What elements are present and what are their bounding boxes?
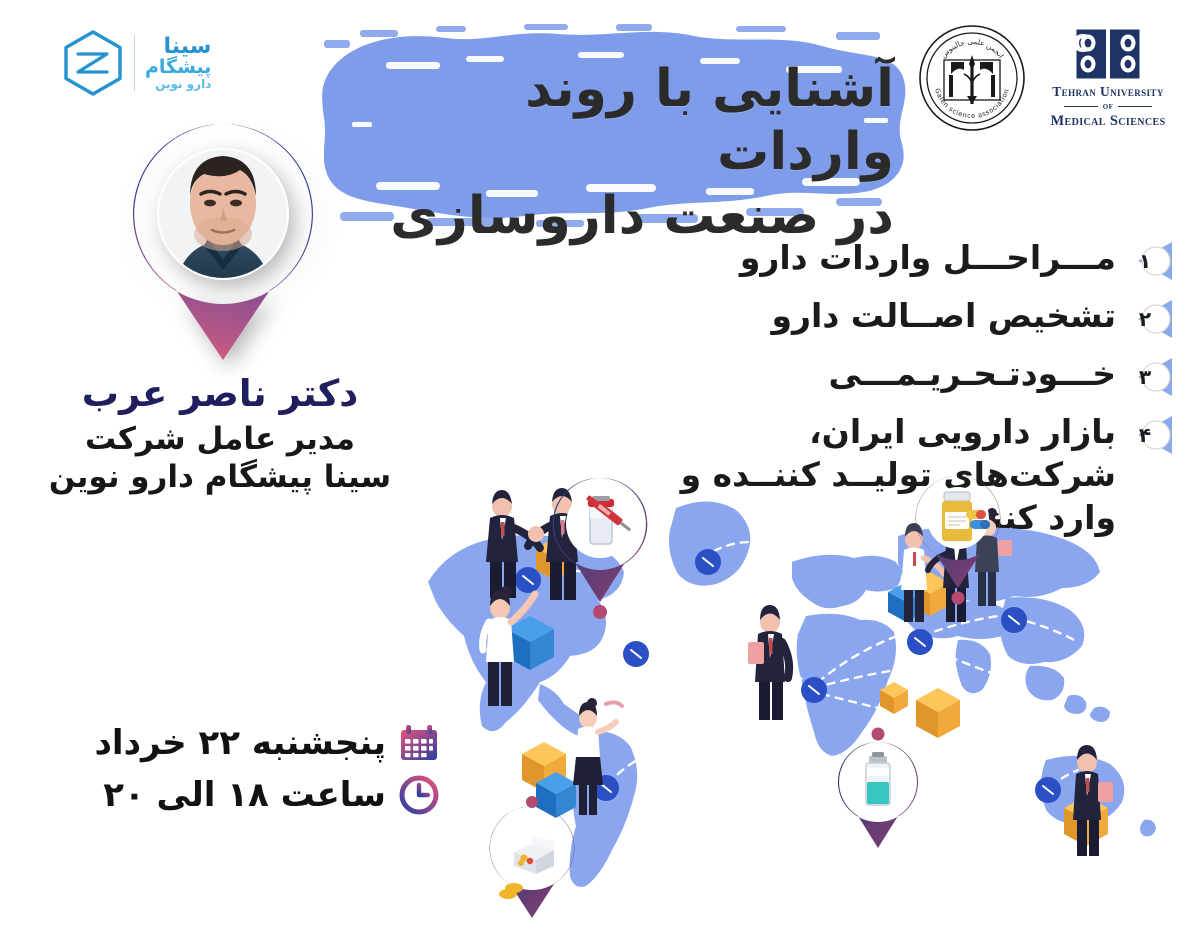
agenda-number-3: ۳ <box>1126 355 1174 399</box>
agenda-item-2[interactable]: ۲ تشخیص اصــالت دارو <box>654 294 1174 341</box>
university-of: of <box>1103 101 1114 112</box>
agenda-badge-1: ۱ <box>1126 239 1174 283</box>
event-date: پنجشنبه ۲۲ خرداد <box>48 723 386 763</box>
schedule-date-row: پنجشنبه ۲۲ خرداد <box>48 722 440 764</box>
open-book-logo-icon <box>1075 28 1141 80</box>
agenda-number-2: ۲ <box>1126 297 1174 341</box>
title-line-2: در صنعت داروسازی <box>338 185 894 248</box>
university-of-row: of <box>1032 101 1184 112</box>
agenda-badge-2: ۲ <box>1126 297 1174 341</box>
page-title: آشنایی با روند واردات در صنعت داروسازی <box>338 58 894 248</box>
company-name-line3: دارو نوین <box>155 78 211 90</box>
clock-icon <box>398 774 440 816</box>
agenda-label-3: خـــودتـحـریـمـــی <box>654 352 1116 396</box>
rule-right <box>1064 106 1098 108</box>
speaker-photo-pin <box>130 118 316 366</box>
company-name-line2: پیشگام <box>145 58 211 77</box>
rule-left <box>1118 106 1152 108</box>
galen-science-association-seal-icon: انجمن علمی جالینوس Galen science associa… <box>918 22 1026 134</box>
logo-divider <box>134 35 135 91</box>
title-block: آشنایی با روند واردات در صنعت داروسازی <box>316 22 916 237</box>
calendar-icon <box>398 722 440 764</box>
speaker-role: مدیر عامل شرکت سینا پیشگام دارو نوین <box>20 421 420 497</box>
agenda-badge-3: ۳ <box>1126 355 1174 399</box>
schedule-block: پنجشنبه ۲۲ خرداد ساعت ۱۸ الی ۲۰ <box>48 722 440 826</box>
agenda-number-4: ۴ <box>1126 413 1174 457</box>
speaker-role-line1: مدیر عامل شرکت <box>20 421 420 459</box>
company-logo: سینا پیشگام دارو نوین <box>62 22 242 104</box>
title-line-1: آشنایی با روند واردات <box>525 59 894 182</box>
tehran-university-logo: Tehran University of Medical Sciences <box>1032 28 1184 124</box>
speaker-name: دکتر ناصر عرب <box>20 372 420 415</box>
poster-canvas: سینا پیشگام دارو نوین انجمن علمی جالینوس <box>0 0 1200 947</box>
agenda-item-3[interactable]: ۳ خـــودتـحـریـمـــی <box>654 352 1174 399</box>
university-name-line1: Tehran University <box>1052 84 1163 100</box>
schedule-time-row: ساعت ۱۸ الی ۲۰ <box>48 774 440 816</box>
hexagon-s-icon <box>62 30 124 96</box>
event-time: ساعت ۱۸ الی ۲۰ <box>48 775 386 815</box>
speaker-role-line2: سینا پیشگام دارو نوین <box>20 459 420 497</box>
agenda-badge-4: ۴ <box>1126 413 1174 457</box>
university-name-line2: Medical Sciences <box>1050 113 1165 130</box>
agenda-label-2: تشخیص اصــالت دارو <box>654 294 1116 338</box>
agenda-number-1: ۱ <box>1126 239 1174 283</box>
world-map-illustration <box>410 470 1200 920</box>
company-wordmark: سینا پیشگام دارو نوین <box>145 36 211 90</box>
